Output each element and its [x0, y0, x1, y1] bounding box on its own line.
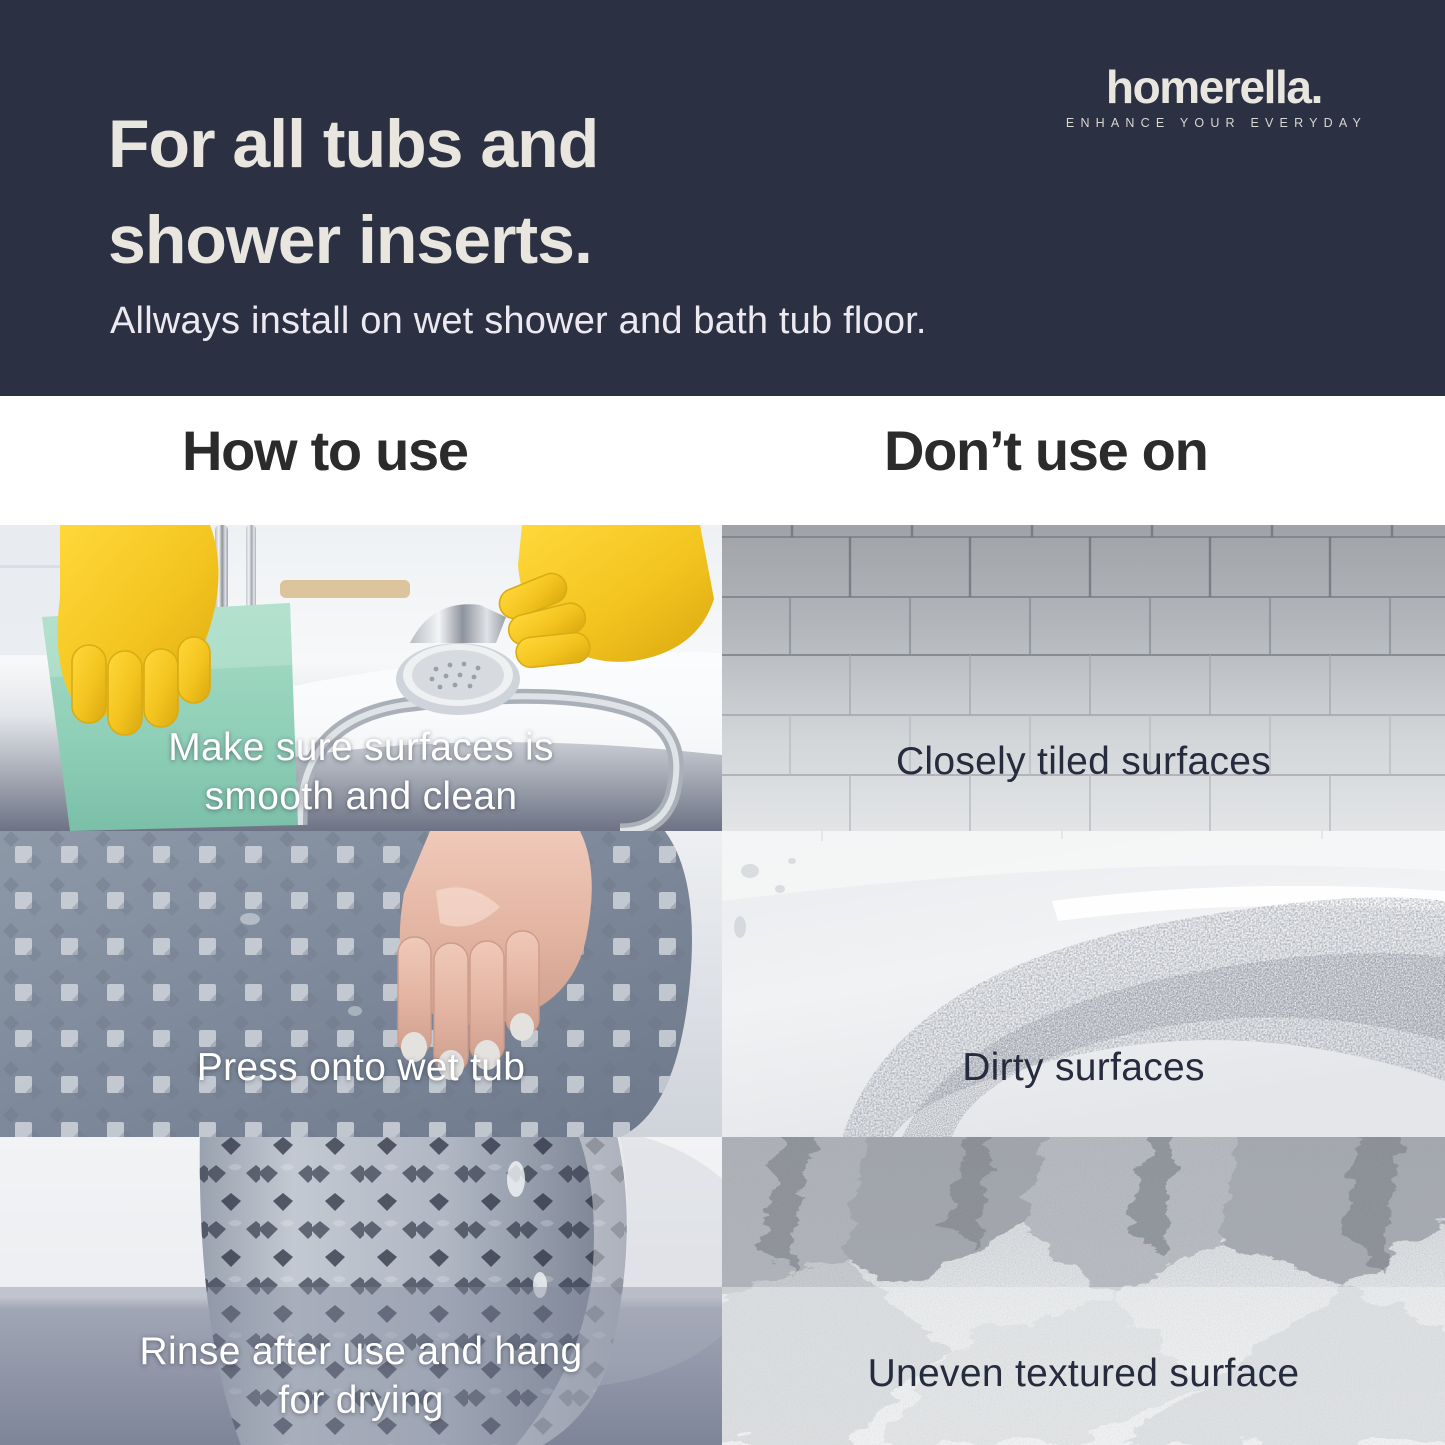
grimy-speckled-tub-surface-image: [722, 831, 1445, 1137]
step-tile-2: Press onto wet tub: [0, 831, 722, 1137]
step-tile-3: Rinse after use and hang for drying: [0, 1137, 722, 1445]
logo-tagline: ENHANCE YOUR EVERYDAY: [1061, 115, 1367, 131]
page-subtitle: Allways install on wet shower and bath t…: [110, 296, 1310, 346]
brand-logo: homerella. ENHANCE YOUR EVERYDAY: [1061, 62, 1367, 131]
infographic-page: For all tubs and shower inserts. Allways…: [0, 0, 1445, 1445]
section-title-dont-use-on: Don’t use on: [884, 418, 1208, 483]
gray-subway-tile-wall-image: [722, 525, 1445, 831]
headline-line-1: For all tubs and: [108, 96, 868, 192]
logo-wordmark: homerella.: [1061, 62, 1367, 112]
warning-tile-2: Dirty surfaces: [722, 831, 1445, 1137]
yellow-gloves-cleaning-shower-head-image: [0, 525, 722, 831]
header-banner: For all tubs and shower inserts. Allways…: [0, 0, 1445, 396]
bath-mat-hanging-over-tub-edge-image: [0, 1137, 722, 1445]
step-tile-1: Make sure surfaces is smooth and clean: [0, 525, 722, 831]
rough-textured-stone-surface-image: [722, 1137, 1445, 1445]
section-title-bar: How to use Don’t use on: [0, 396, 1445, 525]
hand-pressing-gray-bath-mat-image: [0, 831, 722, 1137]
warning-tile-1: Closely tiled surfaces: [722, 525, 1445, 831]
warning-tile-3: Uneven textured surface: [722, 1137, 1445, 1445]
headline-line-2: shower inserts.: [108, 192, 868, 288]
section-title-how-to-use: How to use: [182, 418, 468, 483]
instruction-grid: Make sure surfaces is smooth and clean: [0, 525, 1445, 1445]
page-title: For all tubs and shower inserts.: [108, 96, 868, 288]
